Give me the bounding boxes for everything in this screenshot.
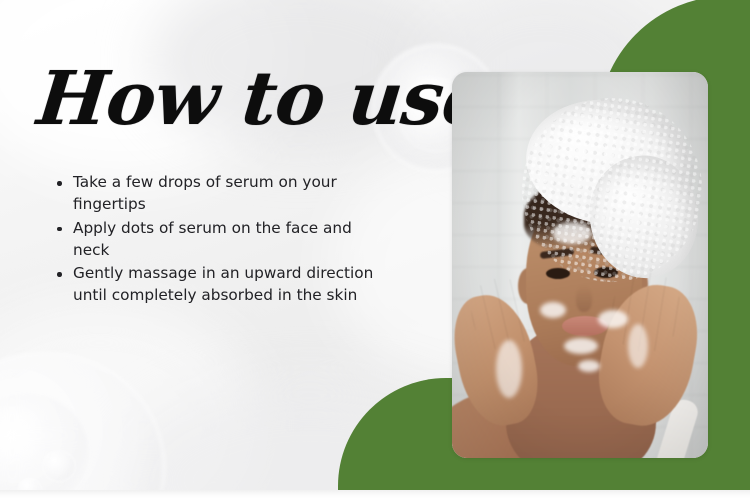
- list-item: Gently massage in an upward direction un…: [54, 263, 384, 307]
- slide-canvas: How to use Take a few drops of serum on …: [0, 0, 750, 499]
- bottom-white-strip: [0, 490, 750, 499]
- instruction-list: Take a few drops of serum on your finger…: [54, 172, 384, 309]
- list-item: Take a few drops of serum on your finger…: [54, 172, 384, 216]
- photo-vignette: [452, 72, 708, 458]
- product-usage-photo: [452, 72, 708, 458]
- page-title: How to use: [34, 62, 492, 136]
- list-item: Apply dots of serum on the face and neck: [54, 218, 384, 262]
